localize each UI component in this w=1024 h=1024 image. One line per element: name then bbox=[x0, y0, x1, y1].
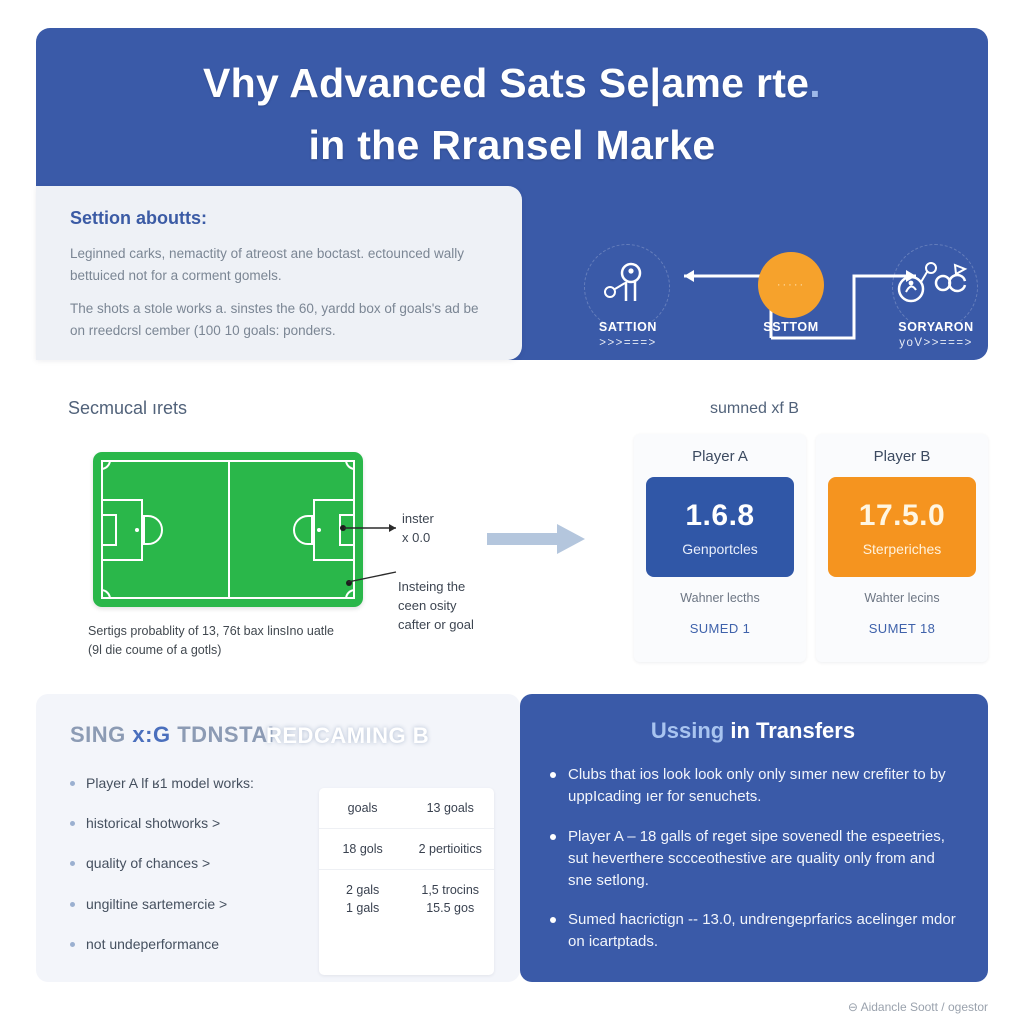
player-card-b-metric: 17.5.0 Sterperiches bbox=[828, 477, 976, 577]
list-item: historical shotworks > bbox=[70, 814, 319, 832]
bottom-left-panel: SING x:G TDNSTAI REDCAMING B Player A lf… bbox=[36, 694, 520, 982]
page-title-line2: in the Rransel Marke bbox=[36, 114, 988, 176]
list-item: Player A lf ʁ1 model works: bbox=[70, 774, 319, 792]
player-card-a-value: 1.6.8 bbox=[654, 499, 786, 533]
page-title-line1: Vhy Advanced Sats Se|ame rte bbox=[203, 60, 809, 106]
intro-heading: Settion aboutts: bbox=[70, 208, 496, 229]
bottom-left-heading-ghost: REDCAMING B bbox=[266, 723, 429, 749]
pitch-annotation-one-line2: x 0.0 bbox=[402, 529, 434, 548]
footer-credit: ⊖ Aidancle Soott / ogestor bbox=[848, 1000, 988, 1014]
stats-mini-table: goals 13 goals 18 gols 2 pertioitics 2 g… bbox=[319, 788, 494, 975]
table-cell: 1,5 trocins 15.5 gos bbox=[406, 870, 494, 928]
player-card-a-note: Wahner lecths bbox=[646, 591, 794, 605]
flow-node-sattion: SATTION >>>===> bbox=[558, 254, 698, 349]
table-cell: 2 gals 1 gals bbox=[319, 870, 407, 928]
player-card-a-value-sub: Genportcles bbox=[654, 541, 786, 557]
page-title-dot: . bbox=[809, 60, 821, 106]
pitch-annotation-two-line2: ceen osity bbox=[398, 597, 474, 616]
orange-circle-dots: ····· bbox=[777, 279, 805, 291]
player-comparison-cards: Player A 1.6.8 Genportcles Wahner lecths… bbox=[634, 434, 988, 662]
table-cell: goals bbox=[319, 788, 407, 828]
flow-node-soryaron-sub: yoV>>===> bbox=[866, 337, 988, 349]
bottom-right-heading-rest: in Transfers bbox=[724, 718, 855, 743]
table-row: goals 13 goals bbox=[319, 788, 494, 829]
pitch-caption: Sertigs probablity of 13, 76t bax linsIn… bbox=[88, 622, 418, 660]
intro-paragraph-2: The shots a stole works a. sinstes the 6… bbox=[70, 298, 496, 342]
pitch-halfway-line bbox=[228, 460, 230, 599]
pitch-caption-line2: (9l die coume of a gotls) bbox=[88, 641, 418, 660]
bottom-left-heading-main: SING x:G TDNSTAI bbox=[70, 722, 274, 748]
list-item: Sumed hacrictign -- 13.0, undrengeprfari… bbox=[548, 909, 958, 953]
list-item: ungiltine sartemercie > bbox=[70, 895, 319, 913]
player-card-b-value-sub: Sterperiches bbox=[836, 541, 968, 557]
list-item: Clubs that ios look look only only sımer… bbox=[548, 764, 958, 808]
pitch-caption-line1: Sertigs probablity of 13, 76t bax linsIn… bbox=[88, 622, 418, 641]
pitch-annotation-one-line1: inster bbox=[402, 510, 434, 529]
flow-node-soryaron: SORYARON yoV>>===> bbox=[866, 254, 988, 349]
table-cell: 18 gols bbox=[319, 829, 407, 869]
football-pitch-diagram bbox=[93, 452, 363, 607]
table-row: 2 gals 1 gals 1,5 trocins 15.5 gos bbox=[319, 870, 494, 928]
flow-node-sttom: ····· SSTTOM bbox=[721, 254, 861, 334]
player-card-a[interactable]: Player A 1.6.8 Genportcles Wahner lecths… bbox=[634, 434, 806, 662]
intro-paragraph-1: Leginned carks, nemactity of atreost ane… bbox=[70, 243, 496, 287]
player-card-b-value: 17.5.0 bbox=[836, 499, 968, 533]
flow-diagram: SATTION >>>===> ····· SSTTOM bbox=[566, 246, 988, 360]
player-card-a-name: Player A bbox=[646, 448, 794, 465]
transition-arrow-icon bbox=[487, 522, 587, 556]
bottom-left-heading-accent-token: x:G bbox=[132, 722, 170, 747]
pitch-penalty-spot-left bbox=[135, 528, 139, 532]
table-cell: 2 pertioitics bbox=[406, 829, 494, 869]
table-cell: 13 goals bbox=[406, 788, 494, 828]
player-card-a-tag: SUMED 1 bbox=[646, 621, 794, 636]
bottom-right-panel: Ussing in Transfers Clubs that ios look … bbox=[520, 694, 988, 982]
pitch-annotation-one: inster x 0.0 bbox=[402, 510, 434, 548]
player-pin-icon bbox=[558, 254, 698, 316]
player-card-b-note: Wahter lecins bbox=[828, 591, 976, 605]
pitch-annotation-two-line1: Insteing the bbox=[398, 578, 474, 597]
list-item: quality of chances > bbox=[70, 854, 319, 872]
flow-node-sttom-label: SSTTOM bbox=[721, 320, 861, 334]
pitch-penalty-spot-right bbox=[317, 528, 321, 532]
flow-node-soryaron-label: SORYARON bbox=[866, 320, 988, 334]
section-heading-right: sumned xf B bbox=[710, 400, 799, 418]
ball-circle-icon: ····· bbox=[721, 254, 861, 316]
page-title: Vhy Advanced Sats Se|ame rte. in the Rra… bbox=[36, 52, 988, 177]
flow-node-sattion-sub: >>>===> bbox=[558, 337, 698, 349]
bottom-left-bullet-list: Player A lf ʁ1 model works: historical s… bbox=[70, 770, 319, 975]
bottom-left-body: Player A lf ʁ1 model works: historical s… bbox=[70, 770, 494, 975]
player-card-a-metric: 1.6.8 Genportcles bbox=[646, 477, 794, 577]
bottom-right-heading-accent: Ussing bbox=[651, 718, 724, 743]
section-heading-left: Secmucal ırets bbox=[68, 398, 187, 419]
bottom-right-heading: Ussing in Transfers bbox=[548, 718, 958, 744]
player-card-b[interactable]: Player B 17.5.0 Sterperiches Wahter leci… bbox=[816, 434, 988, 662]
analytics-node-icon bbox=[866, 254, 988, 316]
orange-ball-circle: ····· bbox=[758, 252, 824, 318]
infographic-page: Vhy Advanced Sats Se|ame rte. in the Rra… bbox=[0, 0, 1024, 1024]
intro-panel: Settion aboutts: Leginned carks, nemacti… bbox=[36, 186, 522, 360]
bottom-left-heading: SING x:G TDNSTAI REDCAMING B bbox=[70, 722, 494, 756]
list-item: not undeperformance bbox=[70, 935, 319, 953]
list-item: Player A – 18 galls of reget sipe sovene… bbox=[548, 826, 958, 892]
pitch-goal-box-left bbox=[101, 514, 117, 546]
table-row: 18 gols 2 pertioitics bbox=[319, 829, 494, 870]
flow-node-sattion-label: SATTION bbox=[558, 320, 698, 334]
bottom-right-bullet-list: Clubs that ios look look only only sımer… bbox=[548, 764, 958, 953]
player-card-b-tag: SUMET 18 bbox=[828, 621, 976, 636]
player-card-b-name: Player B bbox=[828, 448, 976, 465]
